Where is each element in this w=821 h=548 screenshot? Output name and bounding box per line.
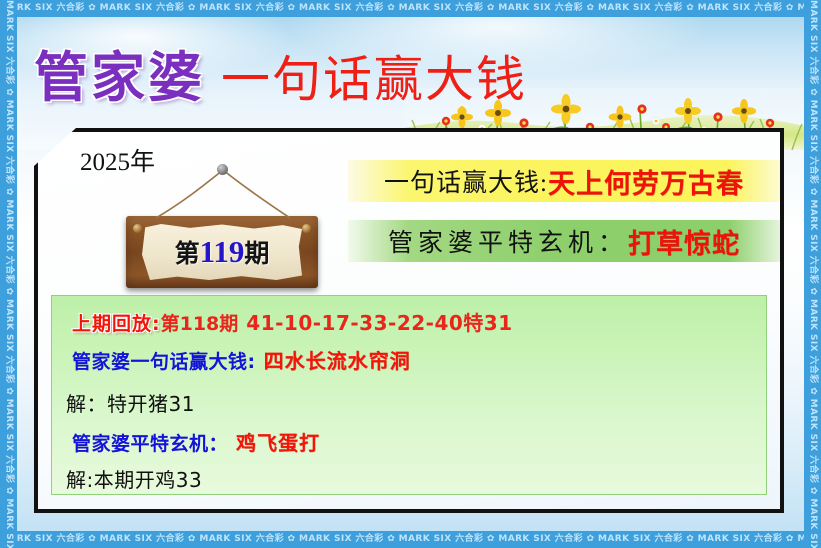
row-pingte: 管家婆平特玄机： 鸡飞蛋打 bbox=[52, 427, 766, 456]
brand-title: 管家婆 bbox=[34, 33, 205, 112]
replay-row: 上期回放: 第118期 41-10-17-33-22-40特31 bbox=[52, 307, 766, 336]
row-yijuhua: 管家婆一句话赢大钱: 四水长流水帘洞 bbox=[52, 345, 766, 374]
banner-pingte-label: 管家婆平特玄机： bbox=[388, 223, 628, 259]
banner-yijuhua-value: 天上何劳万古春 bbox=[548, 162, 744, 201]
row-answer-2-text: 解:本期开鸡33 bbox=[66, 464, 202, 493]
border-right: MARK SIX 六合彩 ✿ MARK SIX 六合彩 ✿ MARK SIX 六… bbox=[804, 0, 821, 548]
page-title: 管家婆 一句话赢大钱 bbox=[34, 33, 527, 112]
replay-label: 上期回放: bbox=[72, 309, 161, 336]
row-answer-1-text: 解：特开猪31 bbox=[66, 388, 195, 417]
issue-text: 第119期 bbox=[175, 234, 270, 270]
row-pingte-label: 管家婆平特玄机： bbox=[72, 429, 228, 456]
content-box: 上期回放: 第118期 41-10-17-33-22-40特31 管家婆一句话赢… bbox=[51, 295, 767, 495]
issue-number: 119 bbox=[200, 234, 245, 269]
border-bottom-text: MARK SIX 六合彩 ✿ MARK SIX 六合彩 ✿ MARK SIX 六… bbox=[0, 531, 821, 548]
border-left: MARK SIX 六合彩 ✿ MARK SIX 六合彩 ✿ MARK SIX 六… bbox=[0, 0, 17, 548]
border-top-text: MARK SIX 六合彩 ✿ MARK SIX 六合彩 ✿ MARK SIX 六… bbox=[0, 0, 821, 17]
replay-issue: 第118期 bbox=[161, 309, 239, 336]
banner-pingte-value: 打草惊蛇 bbox=[628, 222, 740, 261]
nail-icon bbox=[217, 164, 228, 175]
issue-prefix: 第 bbox=[175, 239, 200, 268]
replay-numbers: 41-10-17-33-22-40特31 bbox=[246, 307, 512, 336]
border-bottom: MARK SIX 六合彩 ✿ MARK SIX 六合彩 ✿ MARK SIX 六… bbox=[0, 531, 821, 548]
banner-yijuhua-label: 一句话赢大钱: bbox=[384, 163, 548, 199]
issue-plaque: 第119期 bbox=[98, 164, 343, 294]
row-yijuhua-label: 管家婆一句话赢大钱: bbox=[72, 347, 256, 374]
row-answer-1: 解：特开猪31 bbox=[52, 388, 766, 417]
border-top: MARK SIX 六合彩 ✿ MARK SIX 六合彩 ✿ MARK SIX 六… bbox=[0, 0, 821, 17]
row-answer-2: 解:本期开鸡33 bbox=[52, 464, 766, 493]
row-yijuhua-value: 四水长流水帘洞 bbox=[264, 345, 411, 374]
banner-pingte: 管家婆平特玄机： 打草惊蛇 bbox=[348, 220, 780, 262]
row-pingte-value: 鸡飞蛋打 bbox=[236, 427, 320, 456]
slogan-title: 一句话赢大钱 bbox=[221, 40, 527, 111]
main-panel: 2025年 第119期 一句话赢大钱: 天上何劳万古春 管家婆平特玄机： 打草惊… bbox=[34, 128, 784, 513]
border-left-text: MARK SIX 六合彩 ✿ MARK SIX 六合彩 ✿ MARK SIX 六… bbox=[0, 0, 17, 548]
banner-yijuhua: 一句话赢大钱: 天上何劳万古春 bbox=[348, 160, 780, 202]
issue-suffix: 期 bbox=[244, 239, 269, 268]
border-right-text: MARK SIX 六合彩 ✿ MARK SIX 六合彩 ✿ MARK SIX 六… bbox=[804, 0, 821, 548]
